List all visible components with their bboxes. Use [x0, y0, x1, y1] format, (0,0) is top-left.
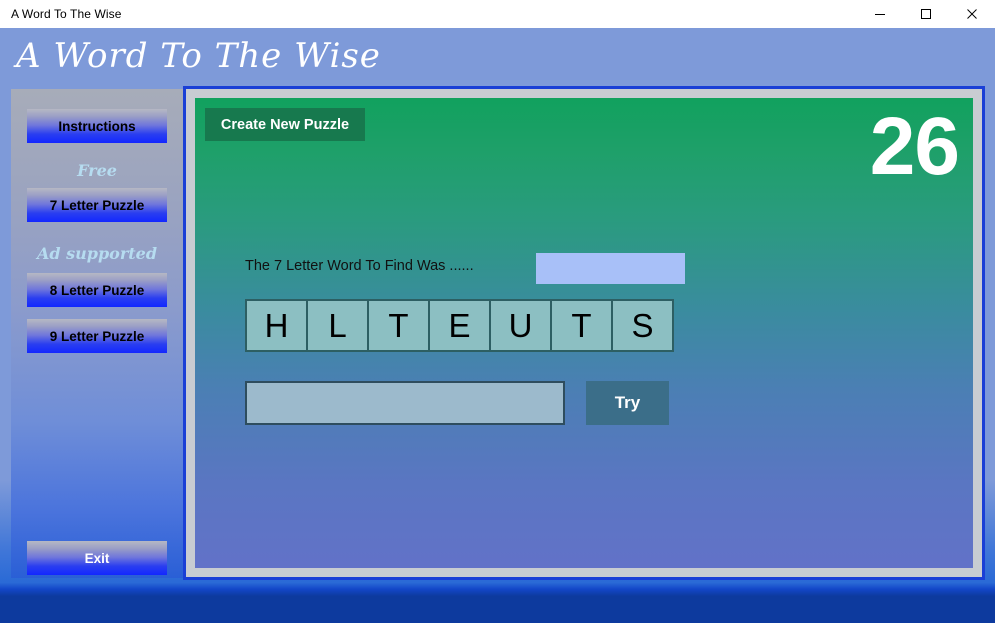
- sidebar-label-free: Free: [27, 161, 167, 180]
- window-title: A Word To The Wise: [0, 7, 122, 21]
- sidebar-label-ad-supported: Ad supported: [27, 244, 167, 263]
- letter-tile[interactable]: H: [245, 299, 308, 352]
- exit-button[interactable]: Exit: [27, 541, 167, 575]
- letter-tile[interactable]: L: [306, 299, 369, 352]
- answer-input[interactable]: [245, 381, 565, 425]
- sidebar-item-instructions[interactable]: Instructions: [27, 109, 167, 143]
- sidebar-item-7-letter-puzzle[interactable]: 7 Letter Puzzle: [27, 188, 167, 222]
- letter-tile[interactable]: T: [367, 299, 430, 352]
- puzzle-panel: Create New Puzzle 26 The 7 Letter Word T…: [195, 98, 973, 568]
- letter-tile[interactable]: U: [489, 299, 552, 352]
- clue-label: The 7 Letter Word To Find Was ......: [245, 258, 474, 274]
- minimize-icon[interactable]: [857, 0, 903, 28]
- app-header-title: A Word To The Wise: [16, 36, 616, 84]
- application-window: A Word To The Wise A Word To The Wise In…: [0, 0, 995, 623]
- revealed-word-field[interactable]: [536, 253, 685, 284]
- letter-tile[interactable]: T: [550, 299, 613, 352]
- close-icon[interactable]: [949, 0, 995, 28]
- letter-tile[interactable]: S: [611, 299, 674, 352]
- sidebar-item-8-letter-puzzle[interactable]: 8 Letter Puzzle: [27, 273, 167, 307]
- sidebar-item-9-letter-puzzle[interactable]: 9 Letter Puzzle: [27, 319, 167, 353]
- score-counter: 26: [870, 106, 959, 188]
- create-new-puzzle-button[interactable]: Create New Puzzle: [205, 108, 365, 141]
- try-button[interactable]: Try: [586, 381, 669, 425]
- letter-tile[interactable]: E: [428, 299, 491, 352]
- sidebar: Instructions Free 7 Letter Puzzle Ad sup…: [11, 89, 183, 578]
- maximize-icon[interactable]: [903, 0, 949, 28]
- window-controls: [857, 0, 995, 28]
- letter-tiles: H L T E U T S: [245, 299, 672, 352]
- window-titlebar: A Word To The Wise: [0, 0, 995, 28]
